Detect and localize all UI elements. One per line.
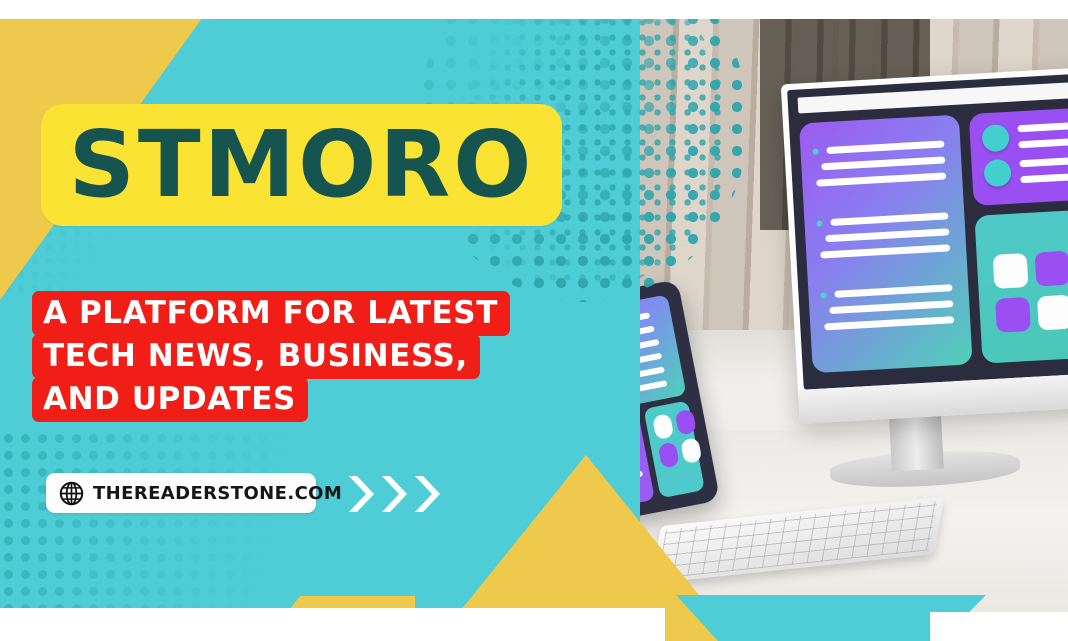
white-strip-top: [0, 0, 1068, 19]
tagline-line-2: TECH NEWS, BUSINESS,: [32, 334, 480, 379]
tagline-line-1: A PLATFORM FOR LATEST: [32, 291, 510, 336]
globe-icon: [59, 481, 84, 506]
chevron-right-icon: [379, 473, 409, 515]
dashboard-card-tiles: [974, 208, 1068, 364]
dashboard-card-profiles: [969, 106, 1068, 206]
dashboard-topbar: [798, 81, 1068, 114]
tagline-block: A PLATFORM FOR LATEST TECH NEWS, BUSINES…: [32, 291, 602, 420]
chevron-arrow-group: [346, 470, 466, 518]
website-url-pill[interactable]: THEREADERSTONE.COM: [46, 473, 316, 513]
dashboard-ui: [787, 72, 1068, 389]
brand-title: STMORO: [69, 119, 535, 211]
tablet-card-list: [640, 294, 686, 415]
tagline-line-3: AND UPDATES: [32, 377, 308, 422]
tablet-card-tiles: [643, 400, 705, 498]
monitor-screen: [787, 72, 1068, 389]
chevron-right-icon: [346, 473, 376, 515]
desktop-monitor: [781, 66, 1068, 424]
chevron-right-icon: [412, 473, 442, 515]
white-strip-bottom: [0, 608, 665, 641]
brand-title-plate: STMORO: [41, 104, 562, 226]
white-strip-bottom-right: [930, 612, 1068, 641]
promotional-banner: STMORO A PLATFORM FOR LATEST TECH NEWS, …: [0, 0, 1068, 641]
website-url-text: THEREADERSTONE.COM: [93, 483, 342, 504]
dashboard-card-list: [799, 115, 973, 374]
halftone-dots-bottom-left: [0, 430, 330, 608]
